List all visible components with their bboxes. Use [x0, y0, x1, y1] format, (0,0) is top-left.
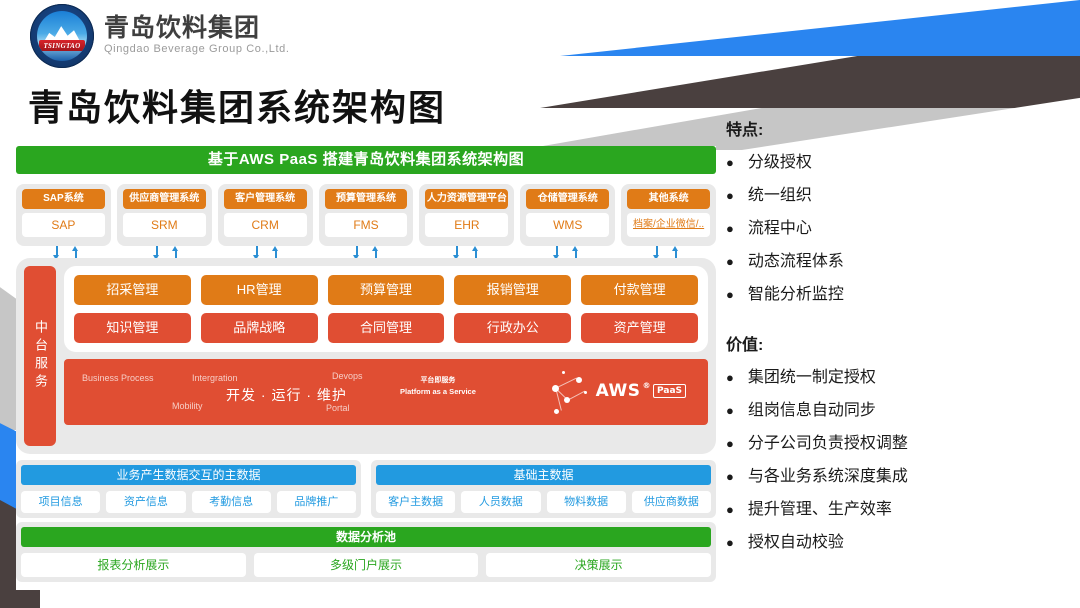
- paas-keyword: Mobility: [172, 401, 203, 411]
- system-card[interactable]: SAP系统 SAP: [16, 184, 111, 246]
- application-row-2: 知识管理 品牌战略 合同管理 行政办公 资产管理: [74, 313, 698, 343]
- features-title: 特点:: [726, 116, 1062, 140]
- bullet-icon: ●: [726, 394, 734, 427]
- system-code: SRM: [123, 213, 206, 237]
- bullet-icon: ●: [726, 179, 734, 212]
- list-item-label: 组岗信息自动同步: [748, 394, 876, 427]
- system-card[interactable]: 预算管理系统 FMS: [319, 184, 414, 246]
- source-systems-row: SAP系统 SAP 供应商管理系统 SRM 客户管理系统 CRM 预算管理系统 …: [16, 184, 716, 246]
- list-item-label: 提升管理、生产效率: [748, 493, 892, 526]
- middle-platform-container: 中台服务 招采管理 HR管理 预算管理 报销管理 付款管理 知识管理 品牌战略 …: [16, 258, 716, 454]
- paas-service-label: 平台即服务 Platform as a Service: [400, 375, 476, 397]
- data-chip[interactable]: 资产信息: [106, 491, 185, 513]
- paas-keyword: Business Process: [82, 373, 154, 383]
- paas-service-cn: 平台即服务: [400, 375, 476, 386]
- app-module[interactable]: 行政办公: [454, 313, 571, 343]
- system-code: FMS: [325, 213, 408, 237]
- system-card[interactable]: 供应商管理系统 SRM: [117, 184, 212, 246]
- brand-text: 青岛饮料集团 Qingdao Beverage Group Co.,Ltd.: [104, 15, 290, 57]
- list-item-label: 分子公司负责授权调整: [748, 427, 908, 460]
- data-chip[interactable]: 供应商数据: [632, 491, 711, 513]
- data-group-items: 客户主数据 人员数据 物料数据 供应商数据: [376, 491, 711, 513]
- features-list: ●分级授权 ●统一组织 ●流程中心 ●动态流程体系 ●智能分析监控: [726, 146, 1062, 311]
- data-analysis-pool: 数据分析池 报表分析展示 多级门户展示 决策展示: [16, 522, 716, 582]
- list-item-label: 授权自动校验: [748, 526, 844, 559]
- list-item-label: 与各业务系统深度集成: [748, 460, 908, 493]
- system-name: 供应商管理系统: [123, 189, 206, 209]
- aws-logo-text: AWS: [596, 381, 641, 401]
- brand-header: TSINGTAO 青岛饮料集团 Qingdao Beverage Group C…: [30, 4, 290, 68]
- data-group-items: 项目信息 资产信息 考勤信息 品牌推广: [21, 491, 356, 513]
- data-group: 业务产生数据交互的主数据 项目信息 资产信息 考勤信息 品牌推广: [16, 460, 361, 518]
- paas-platform-band: Business Process Intergration Mobility D…: [64, 359, 708, 425]
- system-name: SAP系统: [22, 189, 105, 209]
- data-chip[interactable]: 客户主数据: [376, 491, 455, 513]
- app-module[interactable]: 合同管理: [328, 313, 445, 343]
- list-item: ●与各业务系统深度集成: [726, 460, 1062, 493]
- system-name: 客户管理系统: [224, 189, 307, 209]
- diagram-title-bar: 基于AWS PaaS 搭建青岛饮料集团系统架构图: [16, 146, 716, 174]
- system-name: 预算管理系统: [325, 189, 408, 209]
- values-list: ●集团统一制定授权 ●组岗信息自动同步 ●分子公司负责授权调整 ●与各业务系统深…: [726, 361, 1062, 559]
- bullet-icon: ●: [726, 427, 734, 460]
- app-module[interactable]: 知识管理: [74, 313, 191, 343]
- list-item: ●集团统一制定授权: [726, 361, 1062, 394]
- list-item-label: 集团统一制定授权: [748, 361, 876, 394]
- analysis-pool-header: 数据分析池: [21, 527, 711, 547]
- list-item: ●分子公司负责授权调整: [726, 427, 1062, 460]
- system-code: 档案/企业微信/..: [627, 213, 710, 237]
- application-modules: 招采管理 HR管理 预算管理 报销管理 付款管理 知识管理 品牌战略 合同管理 …: [64, 266, 708, 352]
- list-item: ●组岗信息自动同步: [726, 394, 1062, 427]
- paas-headline: 开发 · 运行 · 维护: [226, 385, 347, 405]
- app-module[interactable]: HR管理: [201, 275, 318, 305]
- app-module[interactable]: 预算管理: [328, 275, 445, 305]
- list-item-label: 流程中心: [748, 212, 812, 245]
- list-item: ●流程中心: [726, 212, 1062, 245]
- network-nodes-icon: [538, 369, 592, 415]
- list-item: ●分级授权: [726, 146, 1062, 179]
- list-item: ●智能分析监控: [726, 278, 1062, 311]
- data-group: 基础主数据 客户主数据 人员数据 物料数据 供应商数据: [371, 460, 716, 518]
- app-module[interactable]: 资产管理: [581, 313, 698, 343]
- middle-platform-text: 中台服务: [24, 320, 56, 392]
- list-item: ●授权自动校验: [726, 526, 1062, 559]
- system-name: 人力资源管理平台: [425, 189, 508, 209]
- brand-name-cn: 青岛饮料集团: [104, 15, 290, 41]
- right-text-panel: 特点: ●分级授权 ●统一组织 ●流程中心 ●动态流程体系 ●智能分析监控 价值…: [726, 116, 1062, 559]
- middle-platform-label: 中台服务: [24, 266, 56, 446]
- aws-paas-logo: AWS® PaaS: [596, 381, 686, 401]
- company-logo-icon: TSINGTAO: [30, 4, 94, 68]
- system-code: WMS: [526, 213, 609, 237]
- system-name: 其他系统: [627, 189, 710, 209]
- decor-top-right-dark: [540, 0, 1080, 108]
- decor-top-right-blue: [560, 0, 1080, 56]
- analysis-chip[interactable]: 决策展示: [486, 553, 711, 577]
- page-title: 青岛饮料集团系统架构图: [28, 86, 446, 130]
- application-row-1: 招采管理 HR管理 预算管理 报销管理 付款管理: [74, 275, 698, 305]
- app-module[interactable]: 品牌战略: [201, 313, 318, 343]
- bullet-icon: ●: [726, 526, 734, 559]
- analysis-pool-items: 报表分析展示 多级门户展示 决策展示: [21, 553, 711, 577]
- system-code: SAP: [22, 213, 105, 237]
- system-card[interactable]: 仓储管理系统 WMS: [520, 184, 615, 246]
- slide-canvas: TSINGTAO 青岛饮料集团 Qingdao Beverage Group C…: [0, 0, 1080, 608]
- brand-name-en: Qingdao Beverage Group Co.,Ltd.: [104, 41, 290, 57]
- bullet-icon: ●: [726, 245, 734, 278]
- section-spacer: [726, 311, 1062, 331]
- list-item-label: 分级授权: [748, 146, 812, 179]
- data-group-header: 基础主数据: [376, 465, 711, 485]
- analysis-chip[interactable]: 多级门户展示: [254, 553, 479, 577]
- analysis-chip[interactable]: 报表分析展示: [21, 553, 246, 577]
- system-card[interactable]: 人力资源管理平台 EHR: [419, 184, 514, 246]
- paas-keyword: Devops: [332, 371, 363, 381]
- logo-wordmark: TSINGTAO: [39, 40, 85, 53]
- paas-keyword: Intergration: [192, 373, 238, 383]
- data-chip[interactable]: 人员数据: [461, 491, 540, 513]
- list-item-label: 统一组织: [748, 179, 812, 212]
- data-chip[interactable]: 考勤信息: [192, 491, 271, 513]
- bullet-icon: ●: [726, 361, 734, 394]
- list-item-label: 动态流程体系: [748, 245, 844, 278]
- bullet-icon: ●: [726, 212, 734, 245]
- bullet-icon: ●: [726, 493, 734, 526]
- list-item: ●统一组织: [726, 179, 1062, 212]
- app-module[interactable]: 报销管理: [454, 275, 571, 305]
- data-chip[interactable]: 物料数据: [547, 491, 626, 513]
- list-item: ●动态流程体系: [726, 245, 1062, 278]
- system-code: EHR: [425, 213, 508, 237]
- paas-logo-badge: PaaS: [653, 384, 686, 398]
- system-card[interactable]: 客户管理系统 CRM: [218, 184, 313, 246]
- bullet-icon: ●: [726, 278, 734, 311]
- app-module[interactable]: 招采管理: [74, 275, 191, 305]
- architecture-diagram: 基于AWS PaaS 搭建青岛饮料集团系统架构图 SAP系统 SAP 供应商管理…: [16, 146, 716, 590]
- bullet-icon: ●: [726, 146, 734, 179]
- data-chip[interactable]: 项目信息: [21, 491, 100, 513]
- system-code: CRM: [224, 213, 307, 237]
- data-group-header: 业务产生数据交互的主数据: [21, 465, 356, 485]
- list-item: ●提升管理、生产效率: [726, 493, 1062, 526]
- list-item-label: 智能分析监控: [748, 278, 844, 311]
- value-title: 价值:: [726, 331, 1062, 355]
- app-module[interactable]: 付款管理: [581, 275, 698, 305]
- middle-platform-body: 招采管理 HR管理 预算管理 报销管理 付款管理 知识管理 品牌战略 合同管理 …: [64, 266, 708, 446]
- system-name: 仓储管理系统: [526, 189, 609, 209]
- bullet-icon: ●: [726, 460, 734, 493]
- master-data-row: 业务产生数据交互的主数据 项目信息 资产信息 考勤信息 品牌推广 基础主数据 客…: [16, 460, 716, 518]
- system-card[interactable]: 其他系统 档案/企业微信/..: [621, 184, 716, 246]
- aws-logo-sup: ®: [643, 381, 652, 390]
- data-chip[interactable]: 品牌推广: [277, 491, 356, 513]
- paas-service-en: Platform as a Service: [400, 386, 476, 397]
